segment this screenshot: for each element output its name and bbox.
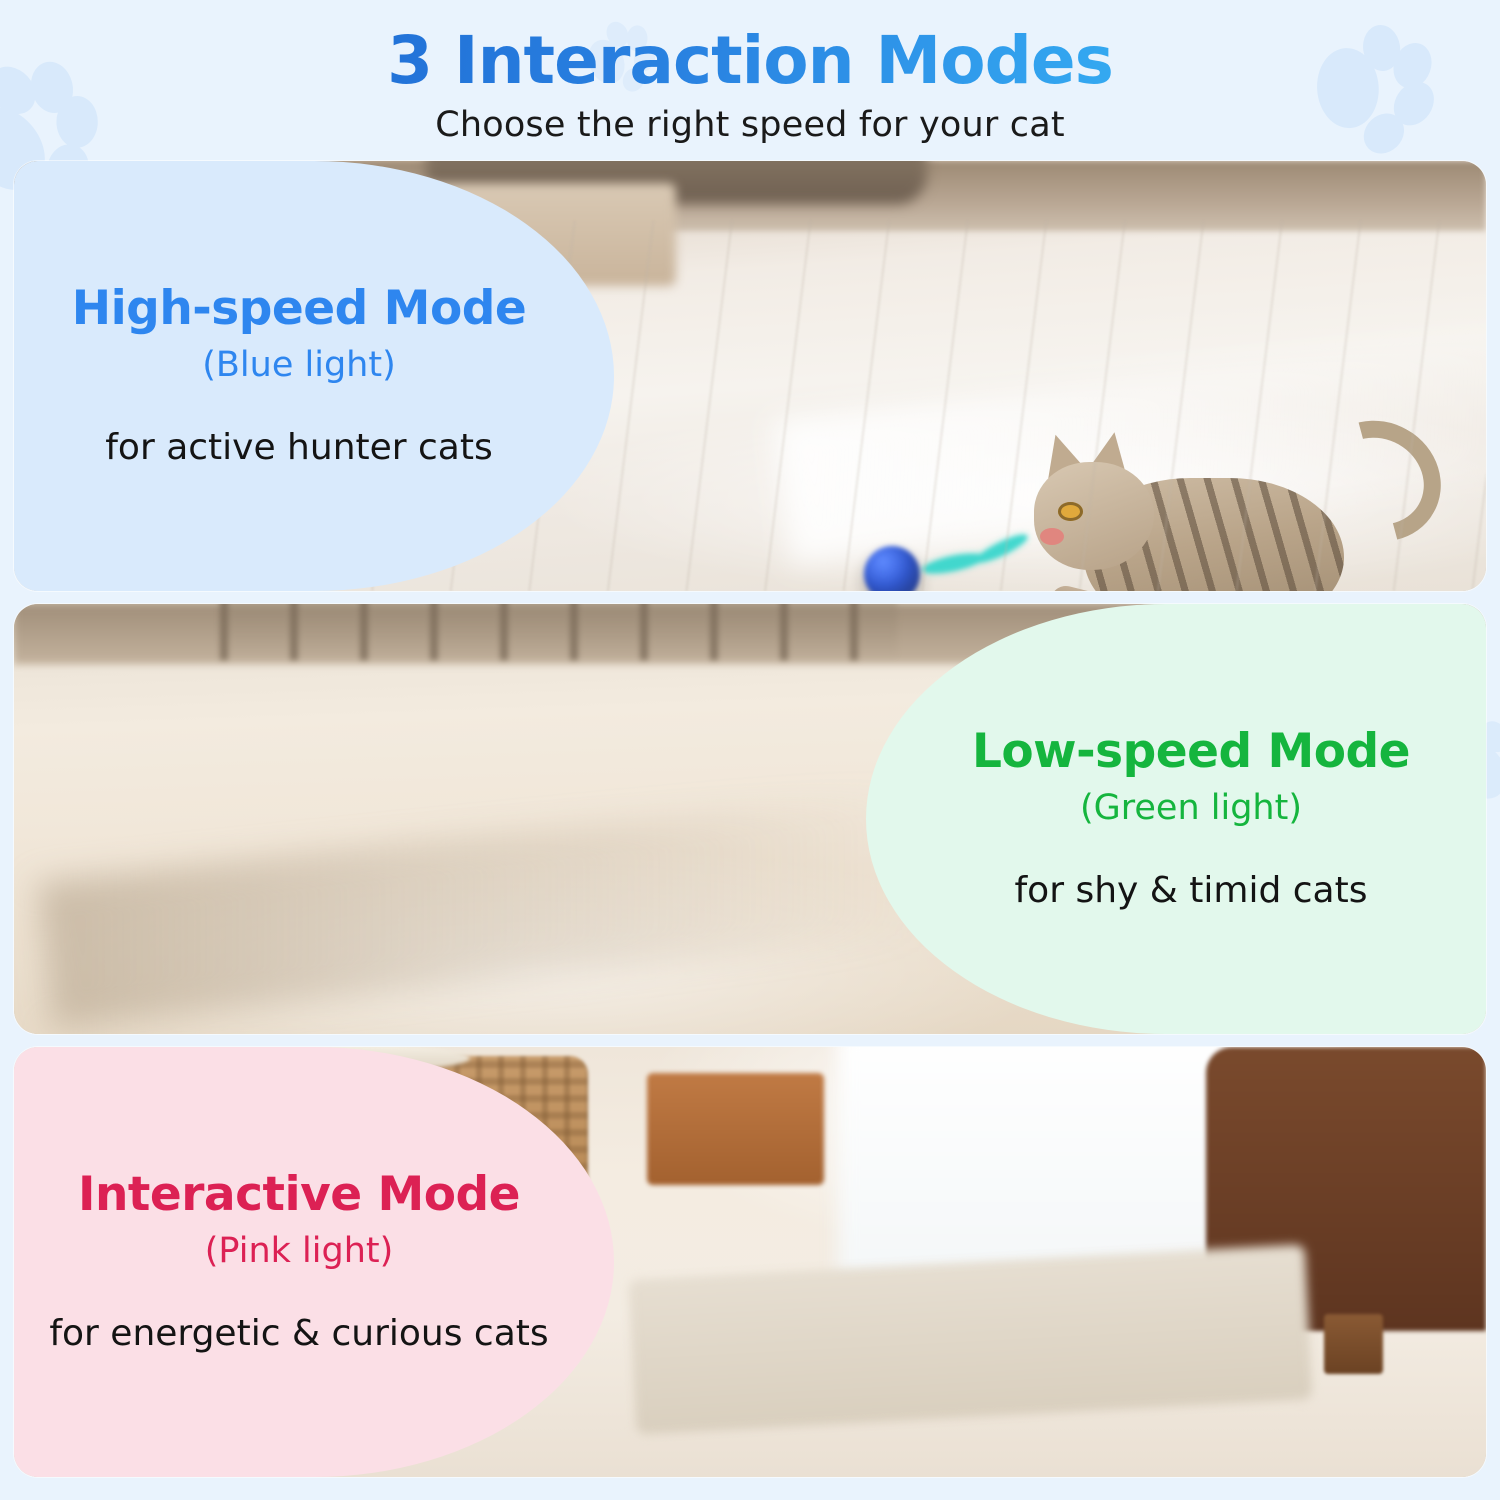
cat-eye (1058, 502, 1083, 521)
feather-tail (974, 531, 1030, 567)
furniture-sofa-leg (1324, 1314, 1383, 1374)
mode-label-low-speed: Low-speed Mode (Green light) for shy & t… (866, 604, 1486, 1034)
mode-title: Interactive Mode (24, 1169, 574, 1222)
floor-shadow (38, 791, 932, 1029)
mode-panel-list: High-speed Mode (Blue light) for active … (0, 145, 1500, 1477)
mode-panel-low-speed[interactable]: Low-speed Mode (Green light) for shy & t… (14, 604, 1486, 1034)
mode-description: for shy & timid cats (916, 869, 1466, 912)
cat-ear (1037, 430, 1085, 479)
mode-title: Low-speed Mode (916, 726, 1466, 779)
mode-light-label: (Green light) (916, 787, 1466, 829)
mode-label-high-speed: High-speed Mode (Blue light) for active … (14, 161, 614, 591)
mode-label-interactive: Interactive Mode (Pink light) for energe… (14, 1047, 614, 1477)
cat-ear (1089, 429, 1133, 475)
sunbeam (774, 316, 1486, 565)
mode-panel-high-speed[interactable]: High-speed Mode (Blue light) for active … (14, 161, 1486, 591)
mode-light-label: (Blue light) (24, 344, 574, 386)
mode-description: for energetic & curious cats (24, 1312, 574, 1355)
cat-photo-tabby-running (1014, 416, 1444, 591)
cat-head (1034, 462, 1154, 570)
mode-panel-interactive[interactable]: Interactive Mode (Pink light) for energe… (14, 1047, 1486, 1477)
cat-torso (1084, 478, 1344, 591)
page-title: 3 Interaction Modes (387, 26, 1113, 95)
cat-leg (1048, 583, 1133, 591)
furniture-chairs (220, 604, 897, 660)
feather-tail (921, 550, 985, 578)
cat-tail (1293, 398, 1463, 564)
mode-light-label: (Pink light) (24, 1230, 574, 1272)
mode-title: High-speed Mode (24, 283, 574, 336)
ball-icon (864, 546, 920, 591)
leather-bag (647, 1073, 824, 1185)
floor-rug (629, 1245, 1313, 1435)
mode-description: for active hunter cats (24, 426, 574, 469)
page-header: 3 Interaction Modes Choose the right spe… (0, 0, 1500, 145)
page-subtitle: Choose the right speed for your cat (0, 105, 1500, 145)
cat-mouth (1040, 528, 1064, 545)
